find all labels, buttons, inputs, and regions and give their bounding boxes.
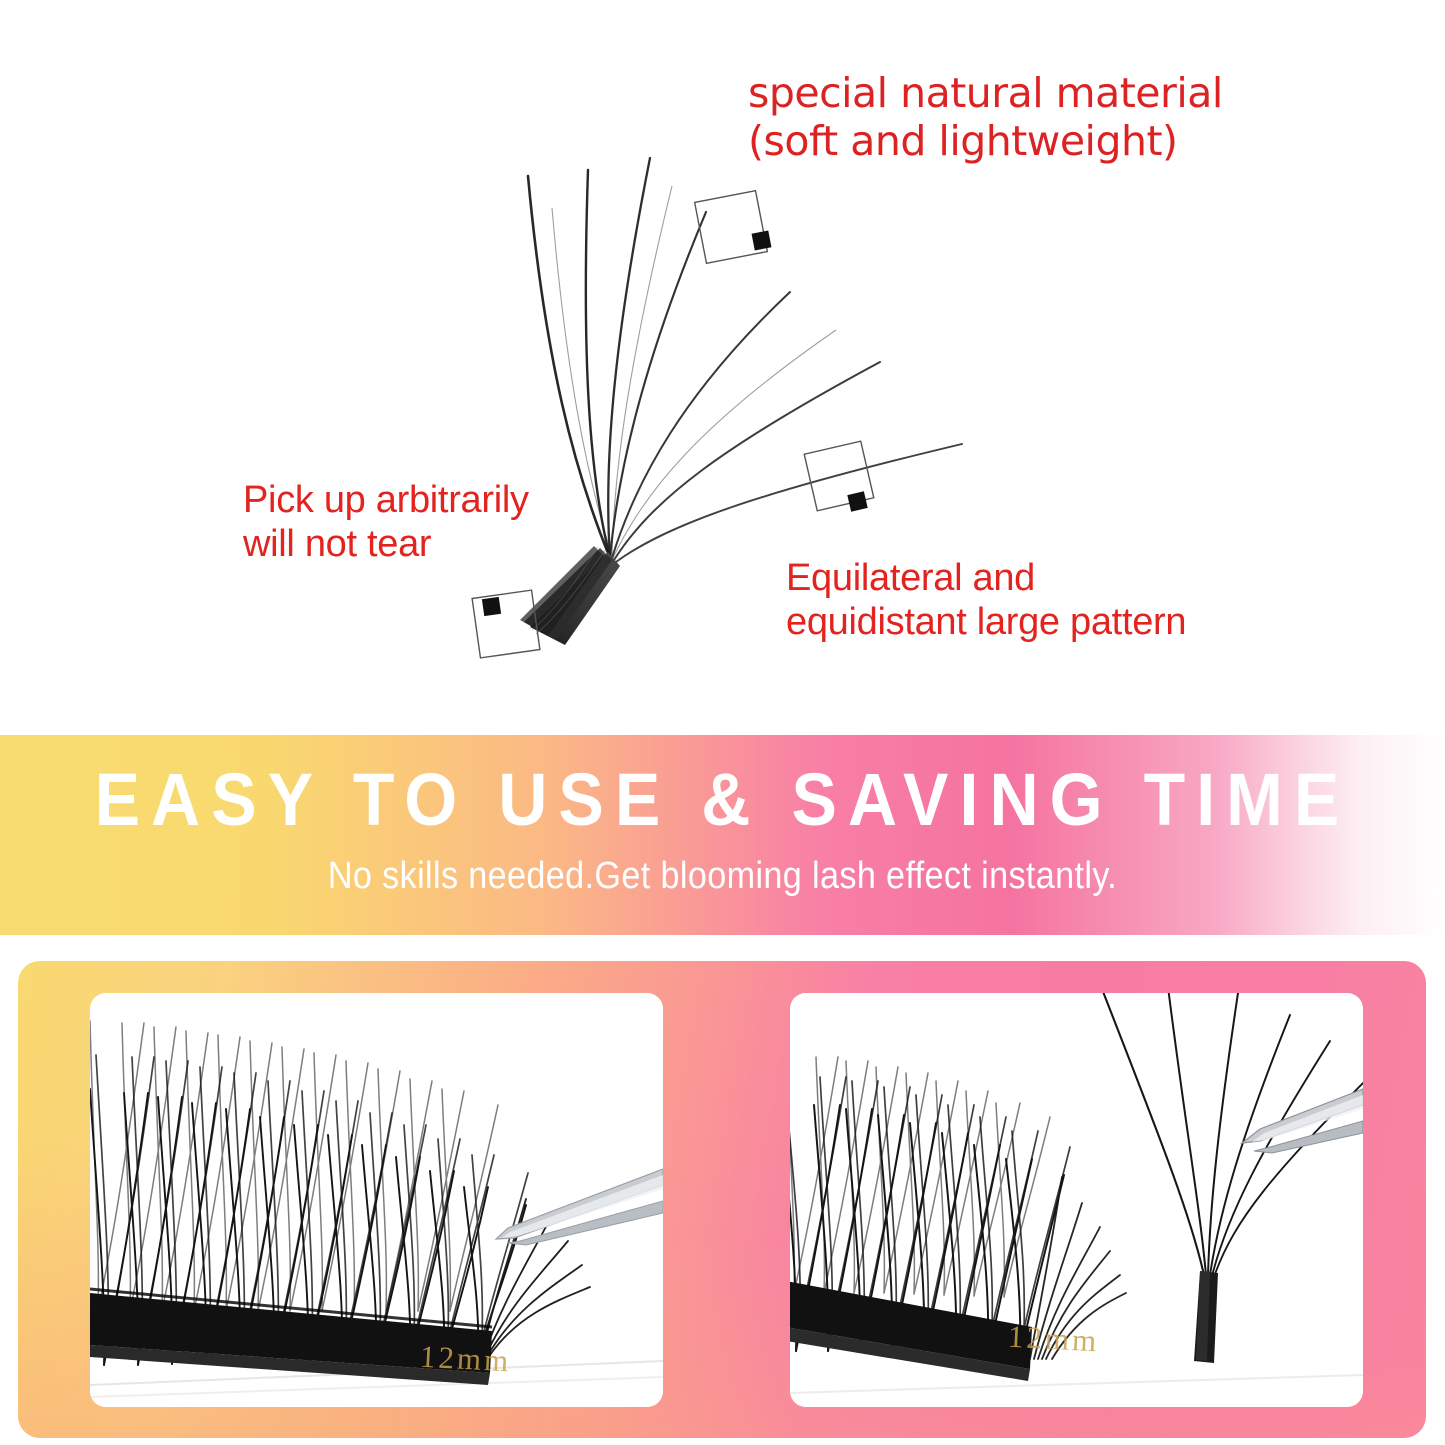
- callout-marker-equilateral: [804, 441, 874, 511]
- lash-base: [520, 546, 620, 645]
- lash-fan-diagram: [0, 0, 1445, 735]
- annotation-pick-up-arbitrarily: Pick up arbitrarily will not tear: [243, 478, 529, 566]
- photo-lash-tray-with-tweezers: 12mm: [90, 993, 663, 1407]
- promo-banner: EASY TO USE & SAVING TIME No skills need…: [0, 735, 1445, 935]
- length-label-left: 12mm: [419, 1339, 512, 1380]
- photo-gallery-frame: 12mm: [18, 961, 1426, 1438]
- lash-tray-photo: [90, 993, 663, 1407]
- length-label-right: 12mm: [1007, 1319, 1100, 1360]
- annotation-special-natural-material: special natural material (soft and light…: [748, 70, 1223, 165]
- hero-section: special natural material (soft and light…: [0, 0, 1445, 735]
- photo-lash-fan-lifted-by-tweezers: 12mm: [790, 993, 1363, 1407]
- callout-marker-material: [695, 191, 772, 264]
- banner-subtitle: No skills needed.Get blooming lash effec…: [72, 855, 1373, 898]
- annotation-equilateral-equidistant: Equilateral and equidistant large patter…: [786, 556, 1186, 644]
- lash-filaments: [528, 158, 962, 562]
- banner-title: EASY TO USE & SAVING TIME: [58, 757, 1387, 842]
